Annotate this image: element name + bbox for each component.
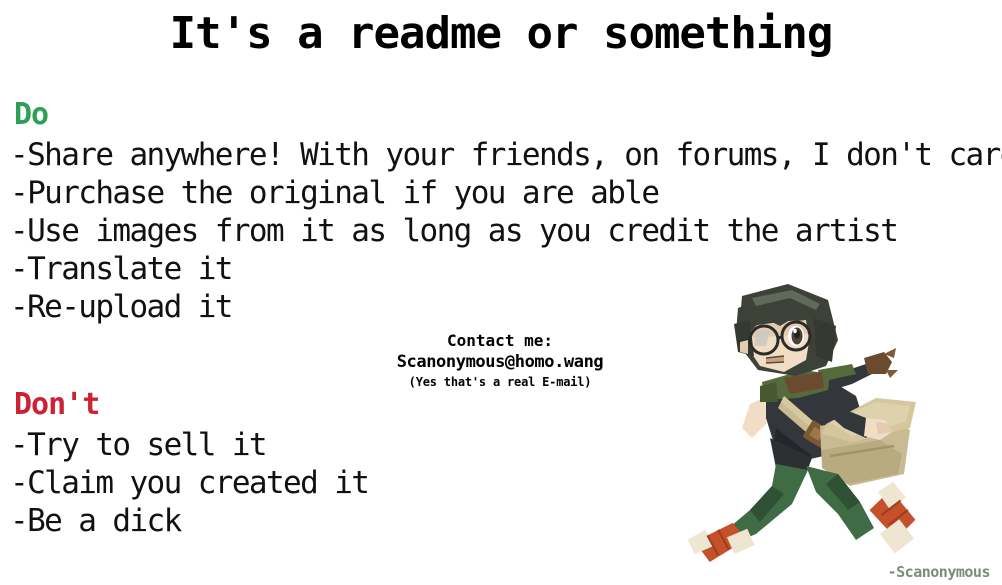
contact-block: Contact me: Scanonymous@homo.wang (Yes t… [330, 330, 670, 391]
page-title: It's a readme or something [0, 8, 1002, 60]
readme-image: It's a readme or something Do -Share any… [0, 0, 1002, 585]
list-item: -Use images from it as long as you credi… [10, 212, 1002, 250]
list-item: -Purchase the original if you are able [10, 174, 1002, 212]
do-heading: Do [14, 98, 1002, 132]
contact-note: (Yes that's a real E-mail) [330, 373, 670, 391]
contact-email: Scanonymous@homo.wang [330, 351, 670, 373]
list-item: -Share anywhere! With your friends, on f… [10, 136, 1002, 174]
contact-heading: Contact me: [330, 330, 670, 351]
running-chibi-boy-illustration [680, 278, 1002, 570]
